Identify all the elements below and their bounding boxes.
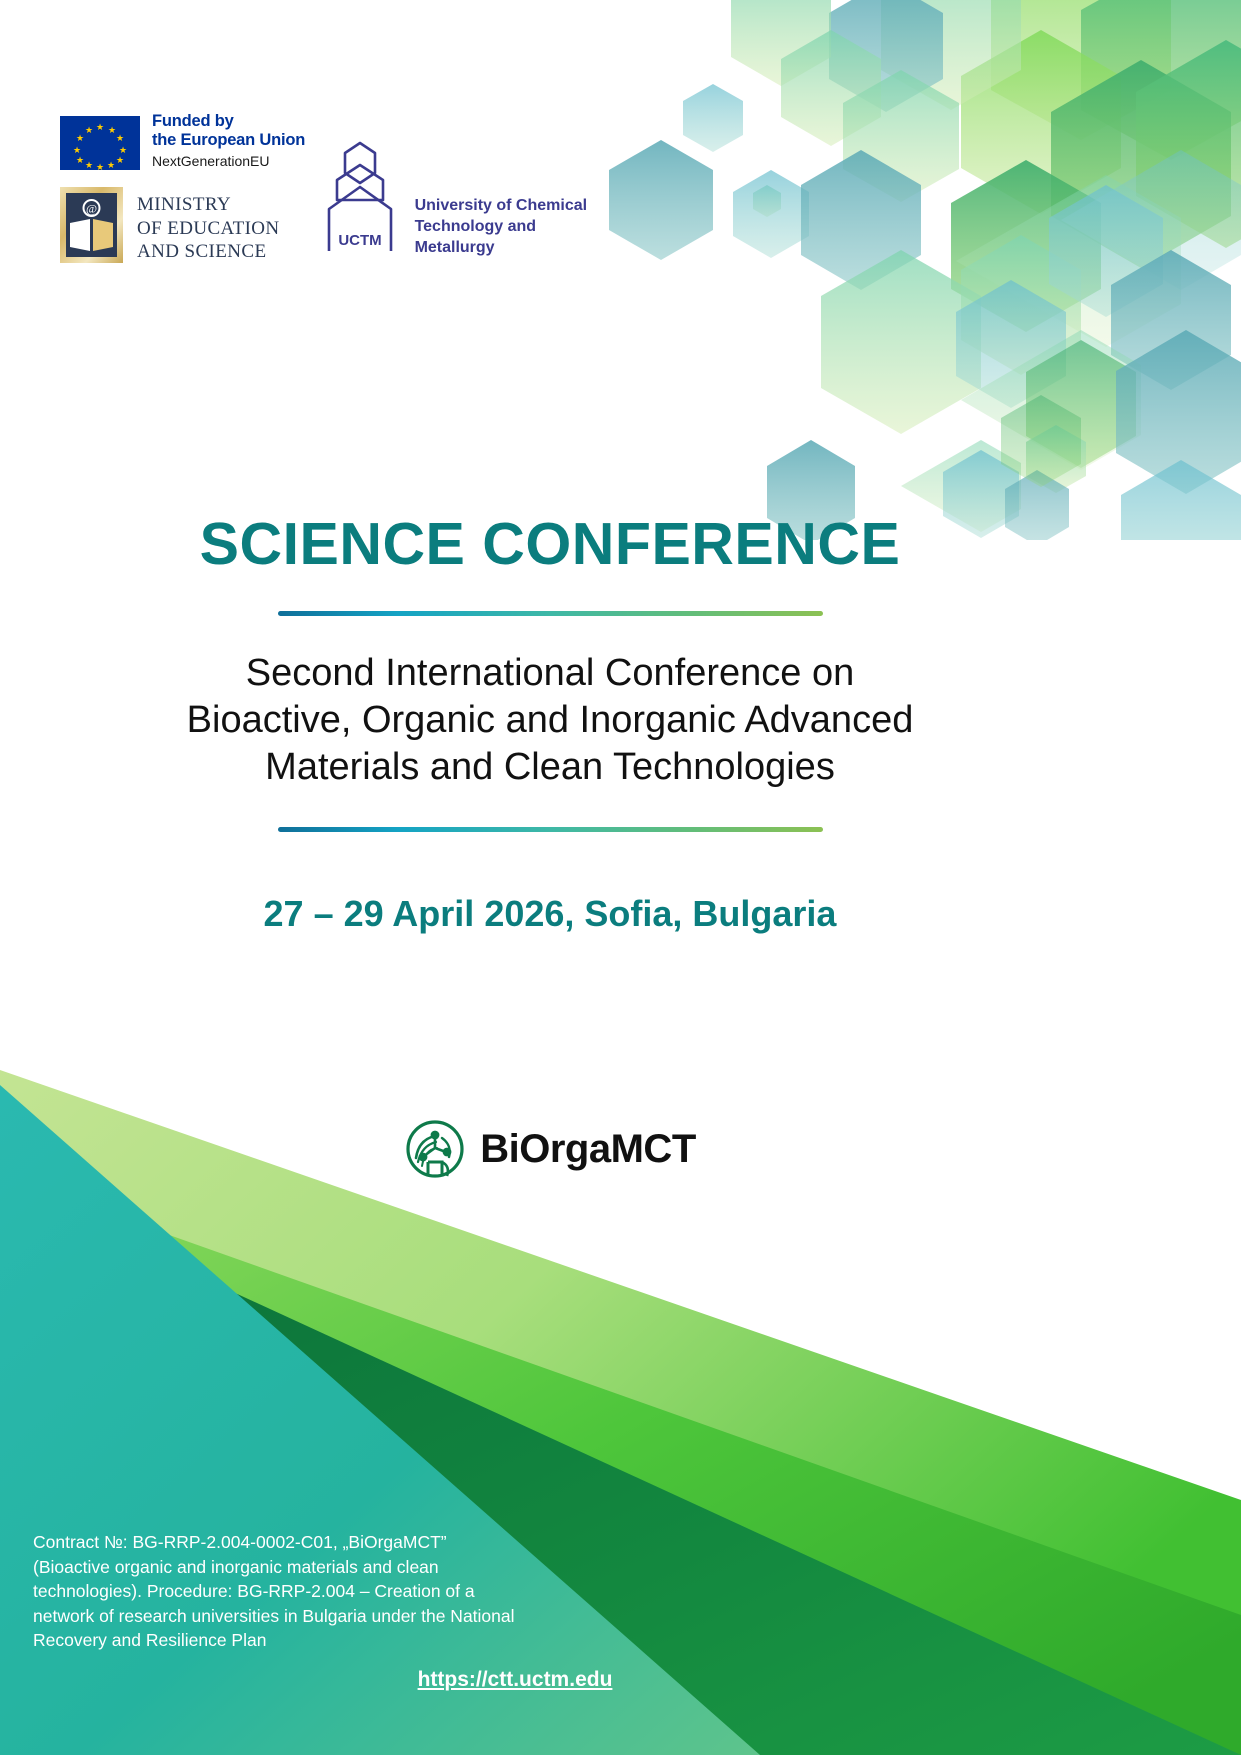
eu-nextgen-label: NextGenerationEU — [152, 152, 305, 171]
ministry-line2: OF EDUCATION — [137, 217, 280, 241]
svg-text:@: @ — [86, 202, 97, 216]
subtitle-line2: Bioactive, Organic and Inorganic Advance… — [0, 697, 1100, 744]
contract-line-3: technologies). Procedure: BG-RRP-2.004 –… — [33, 1579, 633, 1604]
conference-subtitle: Second International Conference on Bioac… — [0, 650, 1100, 791]
ministry-line3: AND SCIENCE — [137, 240, 280, 264]
website-link-wrapper[interactable]: https://ctt.uctm.edu — [290, 1668, 740, 1692]
ministry-book-at-icon: @ — [60, 187, 123, 263]
contract-line-5: Recovery and Resilience Plan — [33, 1628, 633, 1653]
contract-line-2: (Bioactive organic and inorganic materia… — [33, 1555, 633, 1580]
conference-poster: ★ ★ ★ ★ ★ ★ ★ ★ ★ ★ ★ ★ Funded by the Eu… — [0, 0, 1241, 1755]
website-link[interactable]: https://ctt.uctm.edu — [418, 1668, 613, 1691]
eu-flag-icon: ★ ★ ★ ★ ★ ★ ★ ★ ★ ★ ★ ★ — [60, 116, 140, 170]
divider-top — [278, 611, 823, 616]
uctm-line2: Technology and — [415, 216, 588, 237]
contract-line-1: Contract №: BG-RRP-2.004-0002-C01, „BiOr… — [33, 1530, 633, 1555]
eu-funded-line1: Funded by — [152, 112, 305, 131]
contract-info-text: Contract №: BG-RRP-2.004-0002-C01, „BiOr… — [33, 1530, 633, 1653]
uctm-logo: UCTM University of Chemical Technology a… — [315, 187, 588, 258]
contract-line-4: network of research universities in Bulg… — [33, 1604, 633, 1629]
eu-funded-line2: the European Union — [152, 131, 305, 150]
sponsor-logos: ★ ★ ★ ★ ★ ★ ★ ★ ★ ★ ★ ★ Funded by the Eu… — [0, 0, 660, 264]
subtitle-line3: Materials and Clean Technologies — [0, 744, 1100, 791]
page-title: SCIENCE CONFERENCE — [0, 510, 1100, 578]
uctm-line1: University of Chemical — [415, 195, 588, 216]
ministry-logo: @ MINISTRY OF EDUCATION AND SCIENCE — [60, 187, 280, 264]
uctm-line3: Metallurgy — [415, 237, 588, 258]
uctm-tower-icon: UCTM — [315, 139, 405, 257]
ministry-line1: MINISTRY — [137, 193, 280, 217]
divider-bottom — [278, 827, 823, 832]
uctm-abbr-label: UCTM — [338, 232, 381, 249]
conference-date-location: 27 – 29 April 2026, Sofia, Bulgaria — [0, 892, 1100, 936]
conference-heading-block: SCIENCE CONFERENCE Second International … — [0, 510, 1100, 936]
subtitle-line1: Second International Conference on — [0, 650, 1100, 697]
